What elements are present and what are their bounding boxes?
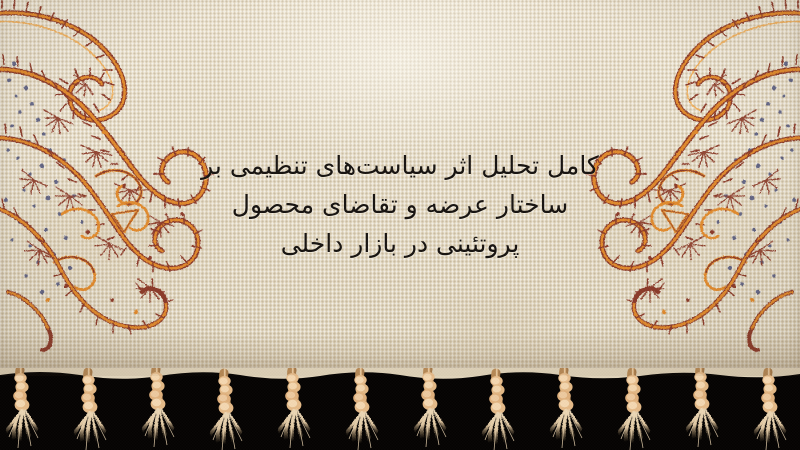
tassel (74, 372, 106, 450)
title-line-1: کامل تحلیل اثر سیاست‌های تنظیمی بر (0, 146, 800, 185)
tassel (414, 369, 446, 447)
slide-canvas: کامل تحلیل اثر سیاست‌های تنظیمی بر ساختا… (0, 0, 800, 450)
title-line-2: ساختار عرضه و تقاضای محصول (0, 185, 800, 224)
title-line-3: پروتئینی در بازار داخلی (0, 224, 800, 263)
tassel (210, 373, 242, 450)
tassel (686, 369, 718, 447)
tassel (482, 373, 514, 450)
slide-title: کامل تحلیل اثر سیاست‌های تنظیمی بر ساختا… (0, 146, 800, 263)
tassel (142, 369, 174, 447)
tassel-row (6, 369, 786, 450)
tassel (754, 372, 786, 450)
tassel (346, 372, 378, 450)
tassel (618, 372, 650, 450)
tassel (6, 370, 38, 448)
tassel (550, 370, 582, 448)
scroll-top (675, 13, 800, 120)
tassel (278, 370, 310, 448)
scroll-top (0, 13, 125, 120)
fringe-band (0, 368, 800, 450)
